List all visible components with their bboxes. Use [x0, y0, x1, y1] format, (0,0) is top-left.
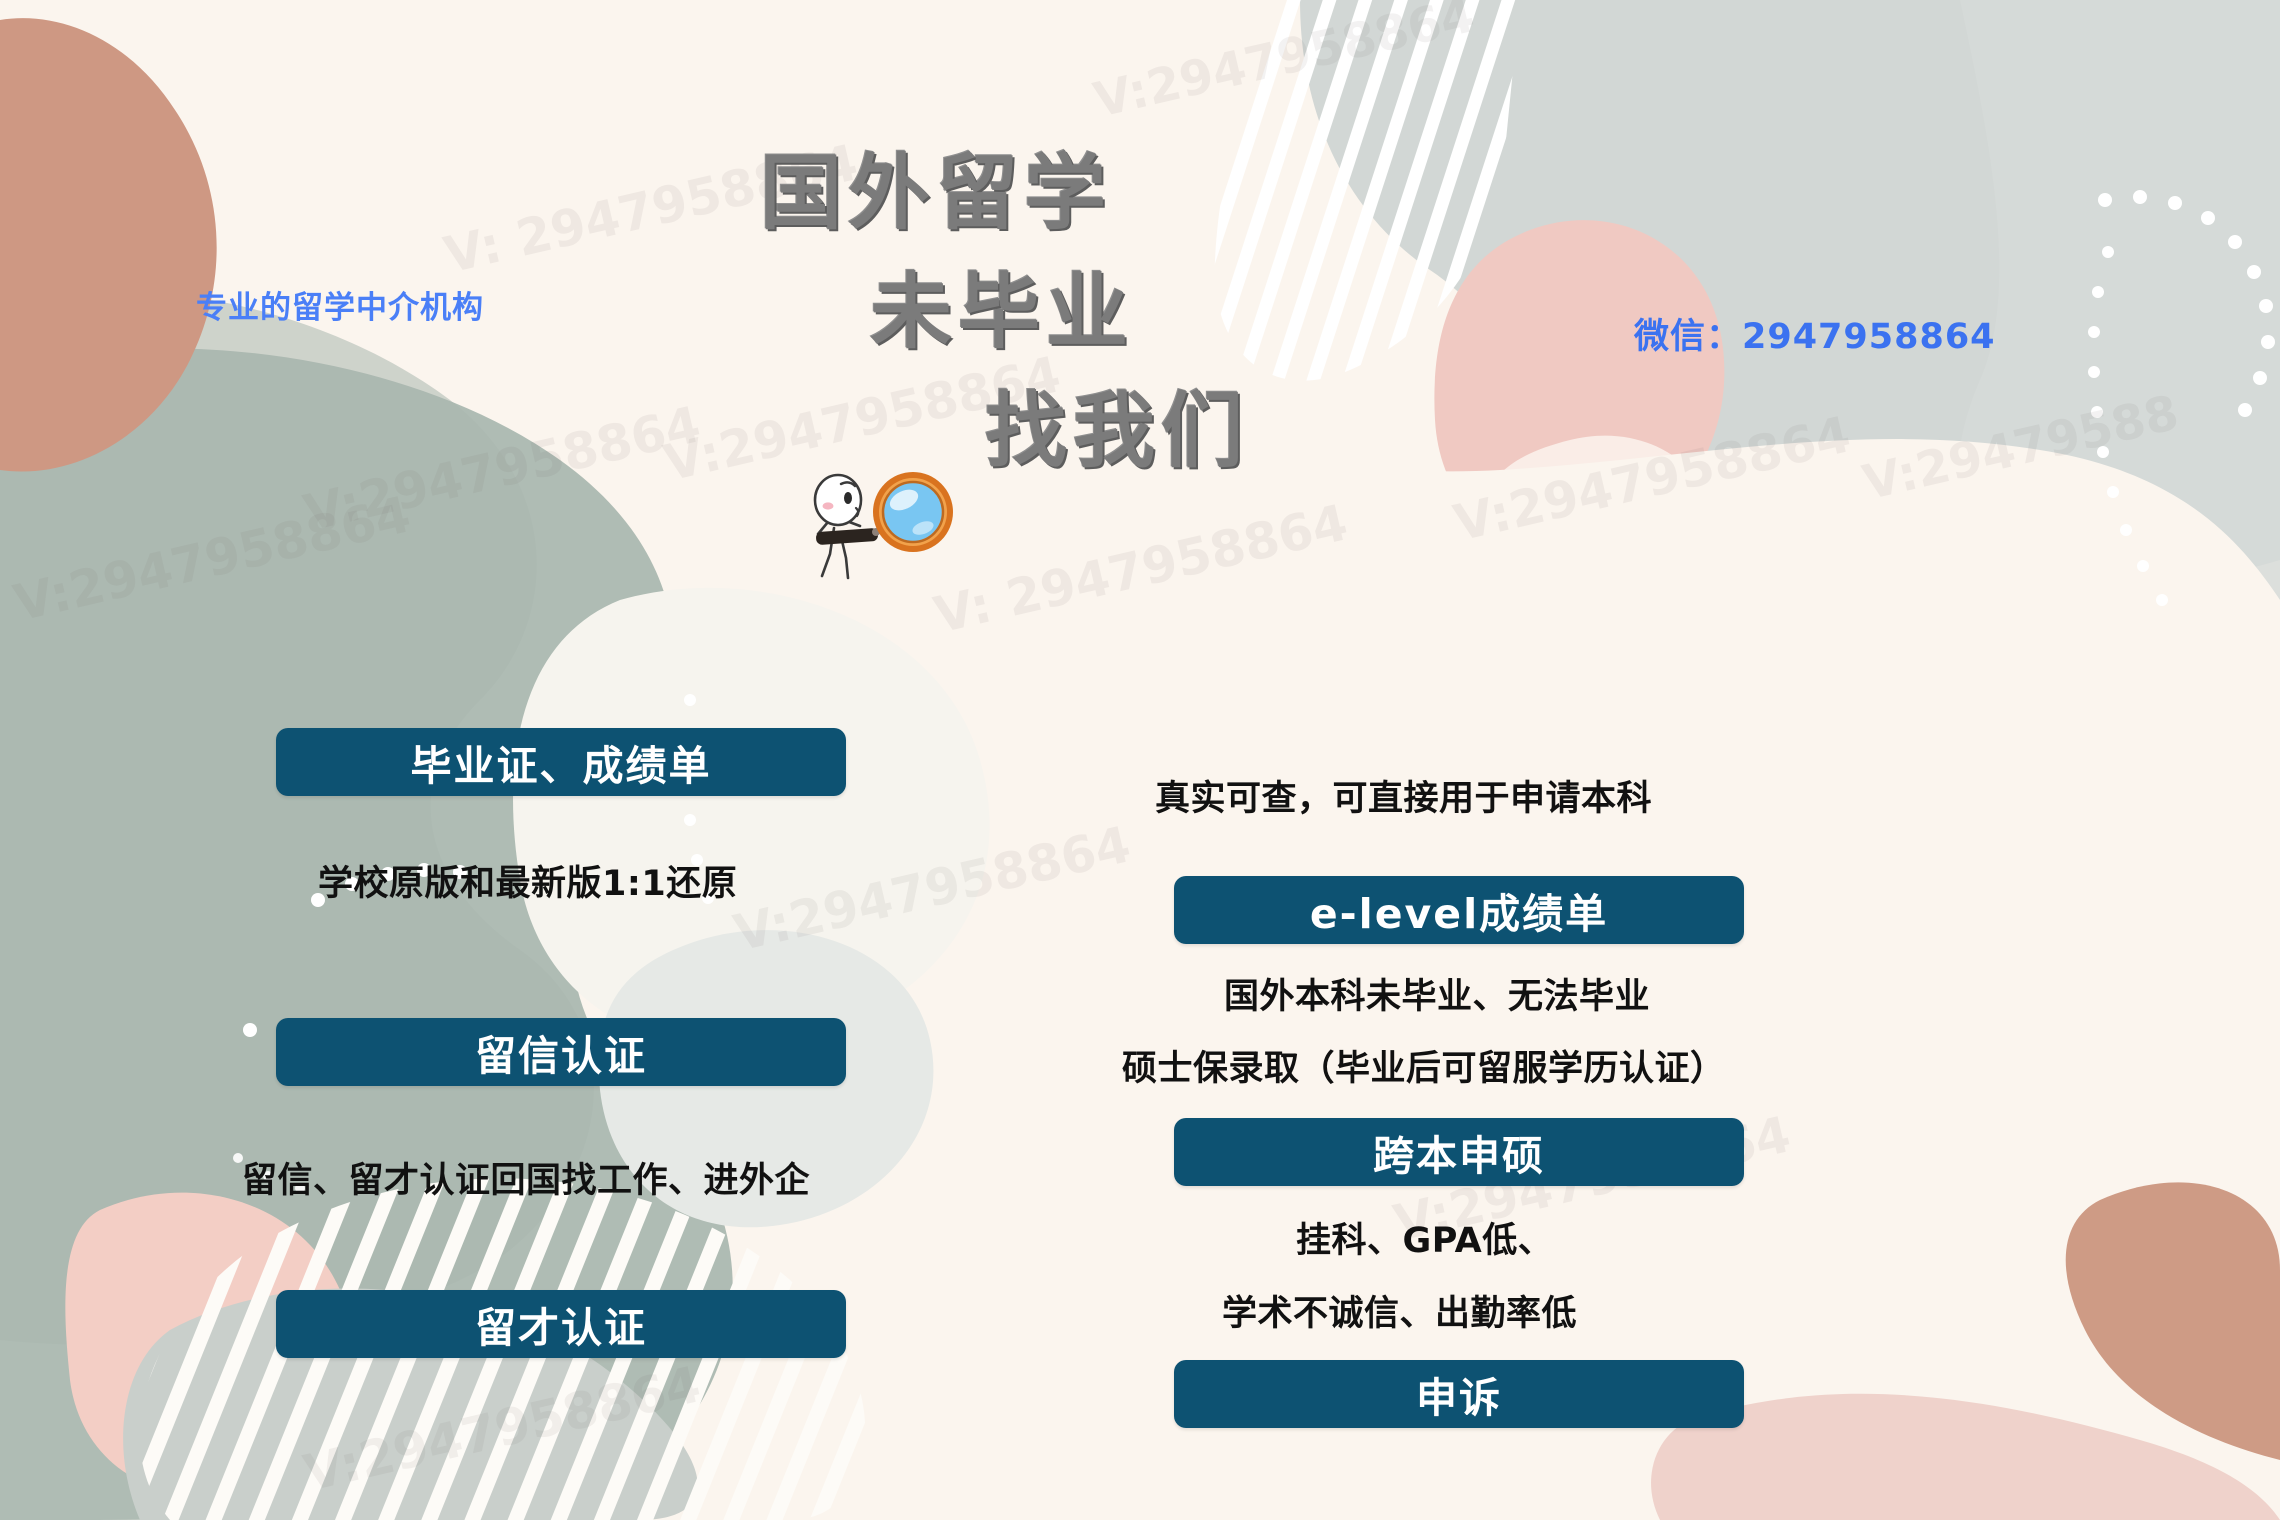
- badge-liuxin-certification[interactable]: 留信认证: [276, 1018, 846, 1086]
- caption-elevel-line-2: 硕士保录取（毕业后可留服学历认证）: [1122, 1040, 1726, 1091]
- agency-tagline: 专业的留学中介机构: [196, 282, 484, 327]
- wechat-contact[interactable]: 微信：2947958864: [1634, 308, 1996, 359]
- caption-elevel-line-1: 国外本科未毕业、无法毕业: [1224, 968, 1650, 1019]
- badge-liucai-certification[interactable]: 留才认证: [276, 1290, 846, 1358]
- headline-line-2: 未毕业: [870, 254, 1320, 373]
- badge-label: 留信认证: [475, 1022, 647, 1082]
- headline-line-1: 国外留学: [760, 135, 1320, 254]
- caption-cross-major-line-2: 学术不诚信、出勤率低: [1222, 1285, 1577, 1336]
- poster-content: 专业的留学中介机构 微信：2947958864 国外留学 未毕业 找我们: [0, 0, 2280, 1520]
- badge-label: e-level成绩单: [1310, 880, 1608, 940]
- badge-elevel-transcript[interactable]: e-level成绩单: [1174, 876, 1744, 944]
- badge-appeal[interactable]: 申诉: [1174, 1360, 1744, 1428]
- badge-diploma-transcript[interactable]: 毕业证、成绩单: [276, 728, 846, 796]
- caption-diploma-transcript: 学校原版和最新版1:1还原: [318, 855, 737, 906]
- badge-label: 跨本申硕: [1373, 1122, 1545, 1182]
- badge-label: 毕业证、成绩单: [411, 732, 712, 792]
- badge-label: 申诉: [1416, 1364, 1502, 1424]
- headline-line-3: 找我们: [985, 373, 1320, 492]
- caption-verifiable-intro: 真实可查，可直接用于申请本科: [1155, 770, 1652, 821]
- caption-liuxin-certification: 留信、留才认证回国找工作、进外企: [242, 1152, 810, 1203]
- poster-root: V:2947958864V: 2947958864V:2947958864V:2…: [0, 0, 2280, 1520]
- badge-label: 留才认证: [475, 1294, 647, 1354]
- badge-cross-major-master[interactable]: 跨本申硕: [1174, 1118, 1744, 1186]
- magnifier-person-icon: [800, 462, 960, 587]
- main-headline: 国外留学 未毕业 找我们: [760, 135, 1320, 492]
- caption-cross-major-line-1: 挂科、GPA低、: [1296, 1212, 1553, 1263]
